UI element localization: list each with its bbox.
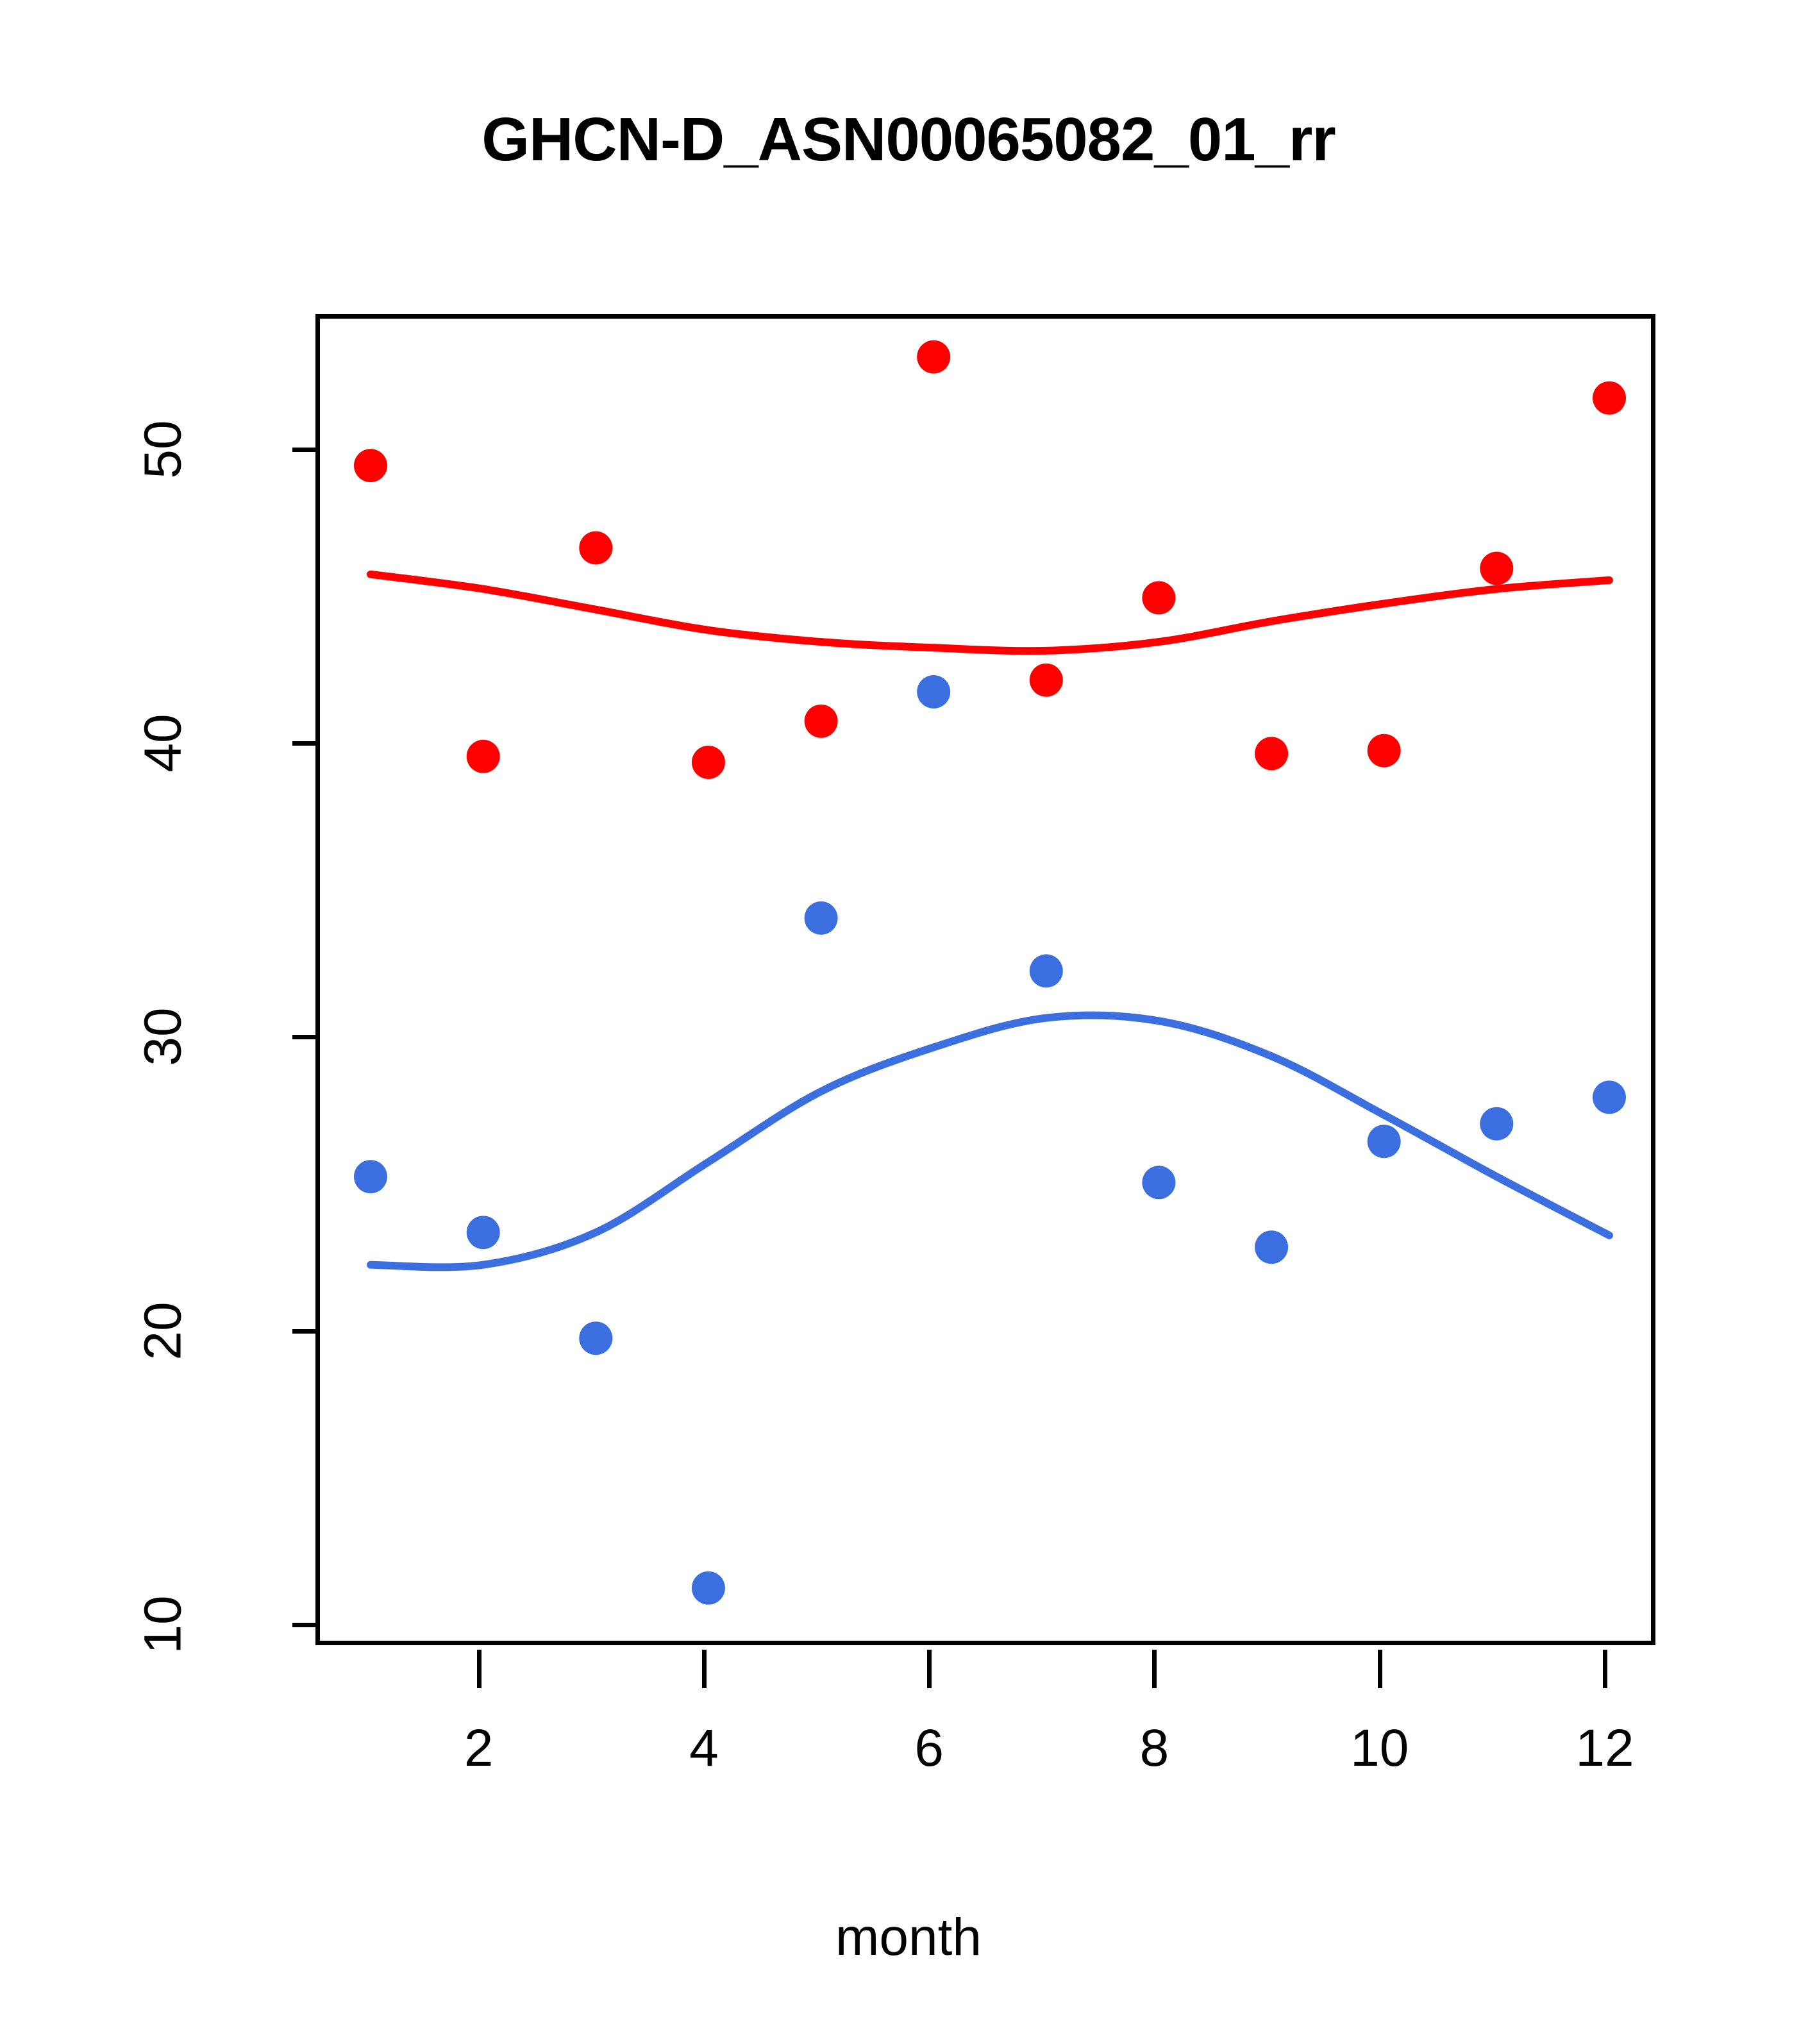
x-axis-tick (1603, 1650, 1607, 1688)
plot-canvas (320, 319, 1660, 1650)
data-point (1593, 381, 1626, 415)
y-axis-label: 40 (0, 705, 263, 782)
y-axis-label-text: 30 (124, 1008, 201, 1066)
data-point (692, 1571, 725, 1605)
x-axis-tick (477, 1650, 481, 1688)
x-axis-tick (1152, 1650, 1157, 1688)
series-red-points (354, 340, 1626, 779)
data-point (354, 1160, 387, 1193)
x-axis-label: 6 (852, 1718, 1006, 1779)
x-axis-tick (1378, 1650, 1382, 1688)
y-axis-tick (292, 448, 315, 452)
x-axis-label: 2 (402, 1718, 556, 1779)
page-title: GHCN-D_ASN00065082_01_rr (0, 109, 1817, 171)
data-point (692, 746, 725, 779)
trend-line-blue-smooth-line (371, 1015, 1609, 1267)
x-axis-title: month (0, 1907, 1817, 1968)
x-axis-label: 12 (1528, 1718, 1682, 1779)
data-point (917, 675, 950, 708)
data-point (917, 340, 950, 374)
y-axis-label: 20 (0, 1293, 263, 1370)
data-point (805, 705, 838, 738)
y-axis-tick (292, 1035, 315, 1039)
data-point (1368, 734, 1401, 767)
data-point (805, 901, 838, 935)
data-point (1142, 581, 1175, 614)
plot-area (315, 314, 1655, 1645)
x-axis-label: 4 (627, 1718, 781, 1779)
y-axis-label: 50 (0, 411, 263, 488)
x-axis-label: 10 (1303, 1718, 1457, 1779)
data-point (1368, 1125, 1401, 1158)
y-axis-tick (292, 1623, 315, 1627)
x-axis-tick (927, 1650, 932, 1688)
data-point (579, 1321, 612, 1355)
y-axis-tick (292, 741, 315, 746)
y-axis-label-text: 10 (124, 1595, 201, 1654)
data-point (579, 532, 612, 565)
y-axis-label: 30 (0, 998, 263, 1075)
y-axis-tick (292, 1329, 315, 1334)
chart-page: GHCN-D_ASN00065082_01_rr 1020304050 2468… (0, 0, 1817, 2044)
data-point (1255, 1230, 1288, 1264)
y-axis-label-text: 40 (124, 714, 201, 772)
data-point (467, 1216, 500, 1249)
data-point (1030, 954, 1063, 987)
x-axis-label: 8 (1077, 1718, 1231, 1779)
data-point (1480, 1107, 1513, 1141)
data-point (1593, 1080, 1626, 1114)
data-point (467, 740, 500, 773)
y-axis-label: 10 (0, 1586, 263, 1663)
data-point (1142, 1166, 1175, 1199)
data-point (1480, 552, 1513, 585)
data-point (354, 449, 387, 482)
data-point (1030, 664, 1063, 697)
data-point (1255, 737, 1288, 770)
y-axis-label-text: 20 (124, 1302, 201, 1360)
x-axis-tick (702, 1650, 707, 1688)
trend-line-red-smooth-line (371, 574, 1609, 651)
y-axis-label-text: 50 (124, 420, 201, 478)
